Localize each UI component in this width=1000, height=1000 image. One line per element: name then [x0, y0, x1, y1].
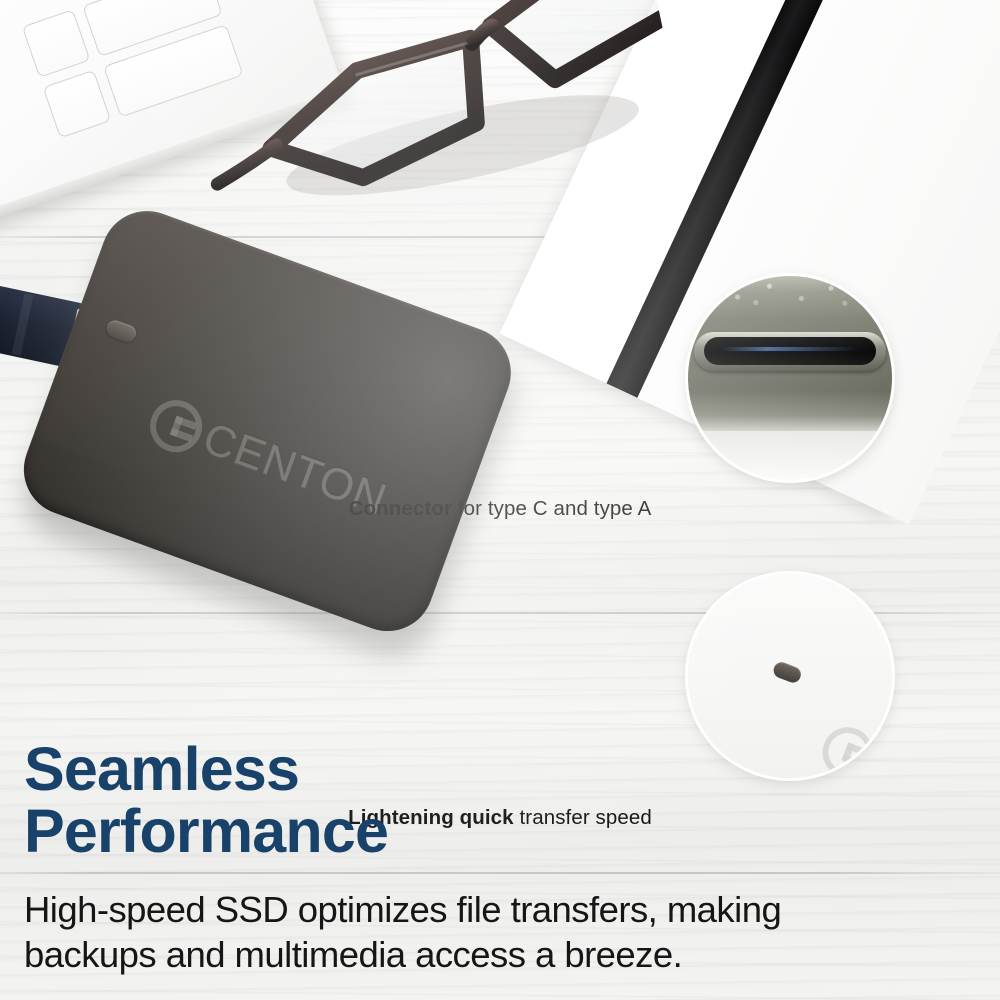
- plank-seam: [0, 872, 1000, 874]
- keyboard-key: [43, 70, 112, 139]
- headline: Seamless Performance: [24, 738, 388, 862]
- inset-speed: [688, 574, 892, 778]
- caption-connector: Connector for type C and type A: [270, 497, 730, 521]
- centon-logo-partial-icon: [814, 719, 881, 778]
- usb-c-port-icon: [688, 276, 892, 431]
- caption-speed-rest: transfer speed: [514, 806, 652, 829]
- ssd-corner-led-icon: [688, 574, 892, 778]
- led-indicator-closeup: [771, 660, 803, 685]
- product-marketing-image: CENTON Connector for type C and type A: [0, 0, 1000, 1000]
- subcopy: High-speed SSD optimizes file transfers,…: [24, 888, 974, 977]
- inset-connector-base: [688, 431, 892, 480]
- usb-c-port-cavity: [704, 337, 877, 365]
- headline-line-2: Performance: [24, 800, 388, 862]
- usb-c-port-blade: [721, 347, 859, 351]
- subcopy-line-1: High-speed SSD optimizes file transfers,…: [24, 889, 781, 930]
- caption-connector-bold: Connector: [349, 497, 452, 520]
- subcopy-line-2: backups and multimedia access a breeze.: [24, 933, 974, 978]
- caption-connector-rest: for type C and type A: [452, 497, 651, 520]
- metal-speckle-texture: [688, 276, 892, 310]
- keyboard-key: [22, 9, 91, 78]
- headline-line-1: Seamless: [24, 735, 299, 803]
- inset-connector: [688, 276, 892, 480]
- usb-c-port-housing: [694, 332, 886, 371]
